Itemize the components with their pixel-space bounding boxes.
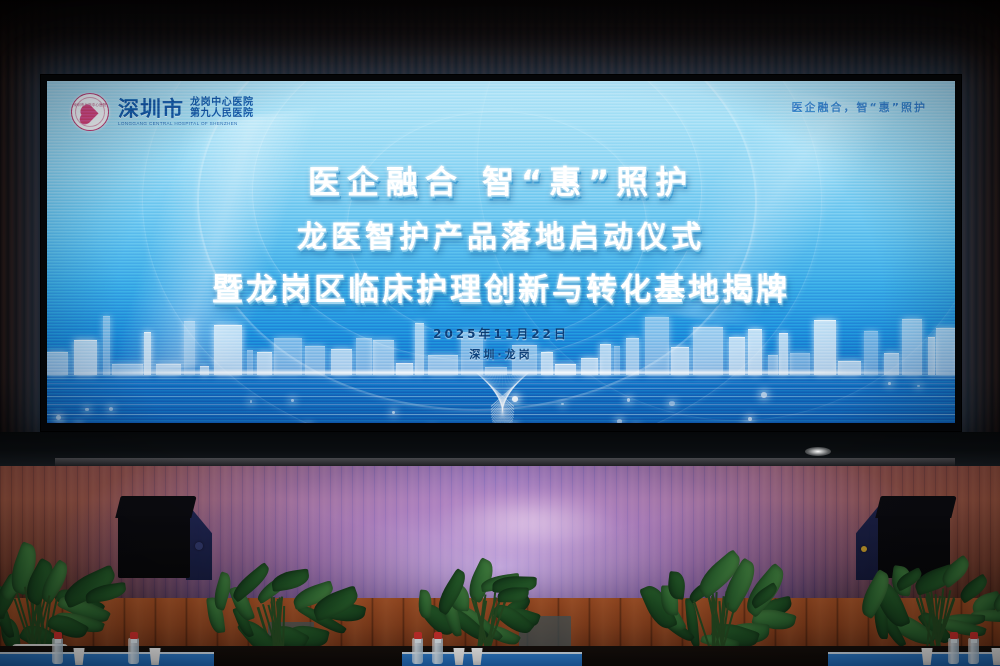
monitor-top-face [115, 496, 196, 518]
water-bottle [52, 638, 63, 664]
title-line-2: 龙医智护产品落地启动仪式 [47, 212, 955, 256]
water-bottle [128, 638, 139, 664]
logo-english-name: LONGGANG CENTRAL HOSPITAL OF SHENZHEN [118, 122, 254, 127]
grid-node-dot [617, 419, 622, 423]
paper-cup [452, 648, 466, 665]
title-line-1: 医企融合 智“惠”照护 [47, 157, 955, 203]
grid-node-dot [291, 399, 294, 402]
monitor-handle-icon [861, 546, 867, 552]
grid-node-dot [888, 382, 891, 385]
monitor-top-face [875, 496, 956, 518]
grid-node-dot [250, 400, 252, 402]
logo-hospital-name-2: 第九人民医院 [190, 109, 254, 119]
led-screen: 深圳市龙岗中心医院 深圳市 龙岗中心医院 第九人民医院 LONGGANG CEN… [47, 81, 955, 423]
logo-city-name: 深圳市 [118, 99, 184, 120]
grid-node-dot [512, 396, 518, 402]
corner-slogan: 医企融合，智“惠”照护 [792, 99, 927, 115]
perspective-grid [47, 373, 955, 423]
title-block: 医企融合 智“惠”照护 龙医智护产品落地启动仪式 暨龙岗区临床护理创新与转化基地… [47, 157, 955, 362]
stage-light-reflection [805, 447, 831, 456]
paper-cup [470, 648, 484, 665]
paper-cup [920, 648, 934, 665]
logo-text-block: 深圳市 龙岗中心医院 第九人民医院 LONGGANG CENTRAL HOSPI… [118, 98, 254, 127]
grid-node-dot [761, 392, 767, 398]
hospital-seal-icon: 深圳市龙岗中心医院 [71, 93, 109, 131]
stage-light-hotspot [440, 490, 620, 552]
event-date: 2025年11月22日 [47, 325, 955, 342]
water-bottle [948, 638, 959, 664]
grid-node-dot [627, 398, 630, 401]
bottle-cap-icon [414, 632, 422, 639]
grid-node-dot [109, 407, 113, 411]
bottle-cap-icon [130, 632, 138, 639]
grid-node-dot [748, 417, 752, 421]
bottle-cap-icon [434, 632, 442, 639]
stage-scene: 深圳市龙岗中心医院 深圳市 龙岗中心医院 第九人民医院 LONGGANG CEN… [0, 0, 1000, 666]
led-screen-bezel: 深圳市龙岗中心医院 深圳市 龙岗中心医院 第九人民医院 LONGGANG CEN… [40, 74, 962, 432]
bottle-cap-icon [950, 632, 958, 639]
bottle-cap-icon [54, 632, 62, 639]
grid-node-dot [669, 401, 674, 406]
paper-cup [148, 648, 162, 665]
monitor-handle-icon [195, 542, 203, 550]
tableware-group [0, 632, 1000, 666]
grid-node-dot [85, 408, 88, 411]
logo-hospital-name-1: 龙岗中心医院 [190, 98, 254, 108]
water-bottle [412, 638, 423, 664]
paper-cup [72, 648, 86, 665]
event-location: 深圳·龙岗 [47, 346, 955, 362]
water-bottle [432, 638, 443, 664]
grid-node-dot [56, 415, 61, 420]
title-line-3: 暨龙岗区临床护理创新与转化基地揭牌 [47, 264, 955, 309]
paper-cup [990, 648, 1000, 665]
bottle-cap-icon [970, 632, 978, 639]
hospital-logo: 深圳市龙岗中心医院 深圳市 龙岗中心医院 第九人民医院 LONGGANG CEN… [71, 93, 254, 131]
water-bottle [968, 638, 979, 664]
grid-node-dot [392, 411, 395, 414]
grid-node-dot [917, 385, 920, 388]
plant-leaf [270, 568, 311, 592]
